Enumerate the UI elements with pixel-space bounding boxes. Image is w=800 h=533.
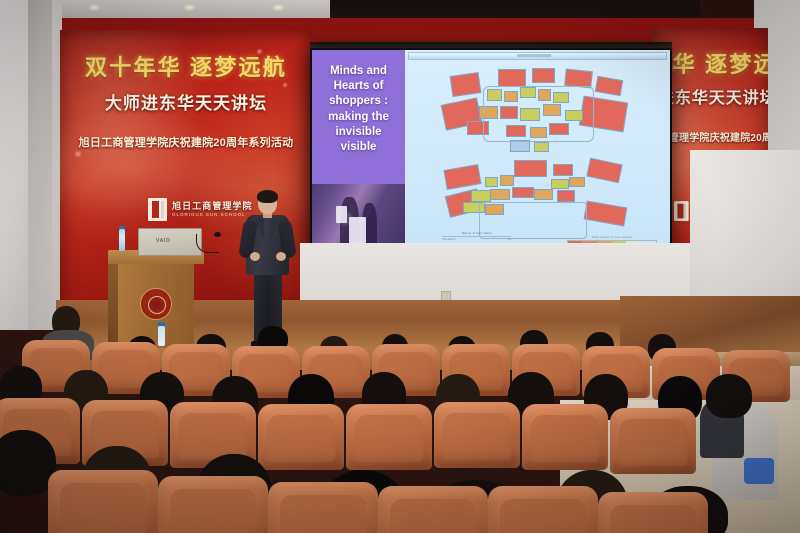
- banner-title: 双十年华 逐梦远航: [60, 50, 312, 82]
- map-block: [583, 200, 627, 226]
- map-block: [551, 179, 569, 189]
- auditorium-seat[interactable]: [434, 402, 520, 468]
- legend-table-header: Map no. of store visitors: [442, 231, 511, 237]
- map-block: [450, 72, 482, 97]
- laptop-brand-label: VAIO: [156, 238, 170, 244]
- auditorium-seat[interactable]: [522, 404, 608, 470]
- map-block: [532, 68, 556, 83]
- slide-title: Minds and Hearts of shoppers : making th…: [312, 50, 405, 155]
- auditorium-seat[interactable]: [48, 470, 158, 533]
- photo-shopping-bag: [336, 206, 347, 223]
- projection-screen: Minds and Hearts of shoppers : making th…: [312, 50, 670, 259]
- university-crest-icon: [140, 288, 172, 320]
- map-block: [587, 158, 624, 183]
- auditorium-seat[interactable]: [268, 482, 378, 533]
- left-wall-shadow: [28, 0, 52, 330]
- auditorium-seat[interactable]: [488, 486, 598, 533]
- map-block: [595, 76, 623, 96]
- school-logo-mark-icon: [148, 198, 167, 221]
- mall-floorplan-heatmap-upper: [440, 67, 636, 161]
- speaker-hand: [276, 252, 286, 261]
- auditorium-seat[interactable]: [378, 486, 488, 533]
- map-block: [485, 177, 499, 187]
- auditorium-seat[interactable]: [346, 404, 432, 470]
- map-block: [514, 160, 547, 177]
- floor-bottle: [158, 326, 165, 346]
- map-block: [553, 164, 573, 176]
- banner-bokeh: [74, 150, 82, 158]
- banner-subtitle: 大师进东华天天讲坛: [60, 89, 312, 114]
- audience-sleeve: [744, 458, 774, 484]
- audience-head: [706, 374, 752, 418]
- lecture-hall-photo: 双十年华 逐梦远航 大师进东华天天讲坛 旭日工商管理学院庆祝建院20周年系列活动…: [0, 0, 800, 533]
- school-logo-mark-icon: [674, 201, 689, 221]
- ceiling-downlight: [183, 4, 196, 11]
- slide-content-panel: Map no. of store visitors The week 1: 14…: [405, 50, 670, 259]
- map-block: [471, 190, 491, 201]
- map-block: [534, 142, 550, 152]
- map-block: [512, 187, 534, 198]
- auditorium-seat[interactable]: [258, 404, 344, 470]
- speaker-hand: [250, 252, 260, 261]
- auditorium-seat[interactable]: [158, 476, 268, 533]
- water-bottle: [119, 229, 125, 251]
- ceiling-downlight: [272, 4, 285, 11]
- map-circulation-path: [483, 86, 595, 143]
- auditorium-seat[interactable]: [610, 408, 696, 474]
- colorscale-title: Total number of store visitors: [567, 235, 657, 239]
- banner-subtitle-secondary: 旭日工商管理学院庆祝建院20周年系列活动: [60, 134, 312, 150]
- mall-floorplan-heatmap-lower: [440, 159, 636, 243]
- slide-header-bar: [408, 52, 667, 60]
- map-block: [569, 177, 585, 187]
- slide-title-panel: Minds and Hearts of shoppers : making th…: [312, 50, 405, 259]
- presentation-slide: Minds and Hearts of shoppers : making th…: [312, 50, 670, 259]
- map-block: [500, 175, 514, 185]
- map-block: [444, 164, 482, 190]
- speaker-hair: [257, 190, 278, 203]
- map-block: [534, 189, 554, 200]
- map-block: [498, 69, 525, 87]
- microphone-head-icon: [214, 232, 221, 237]
- auditorium-seat[interactable]: [598, 492, 708, 533]
- map-block: [490, 189, 510, 200]
- banner-bokeh: [282, 82, 288, 88]
- map-block: [557, 190, 575, 202]
- ceiling-downlight: [88, 4, 101, 11]
